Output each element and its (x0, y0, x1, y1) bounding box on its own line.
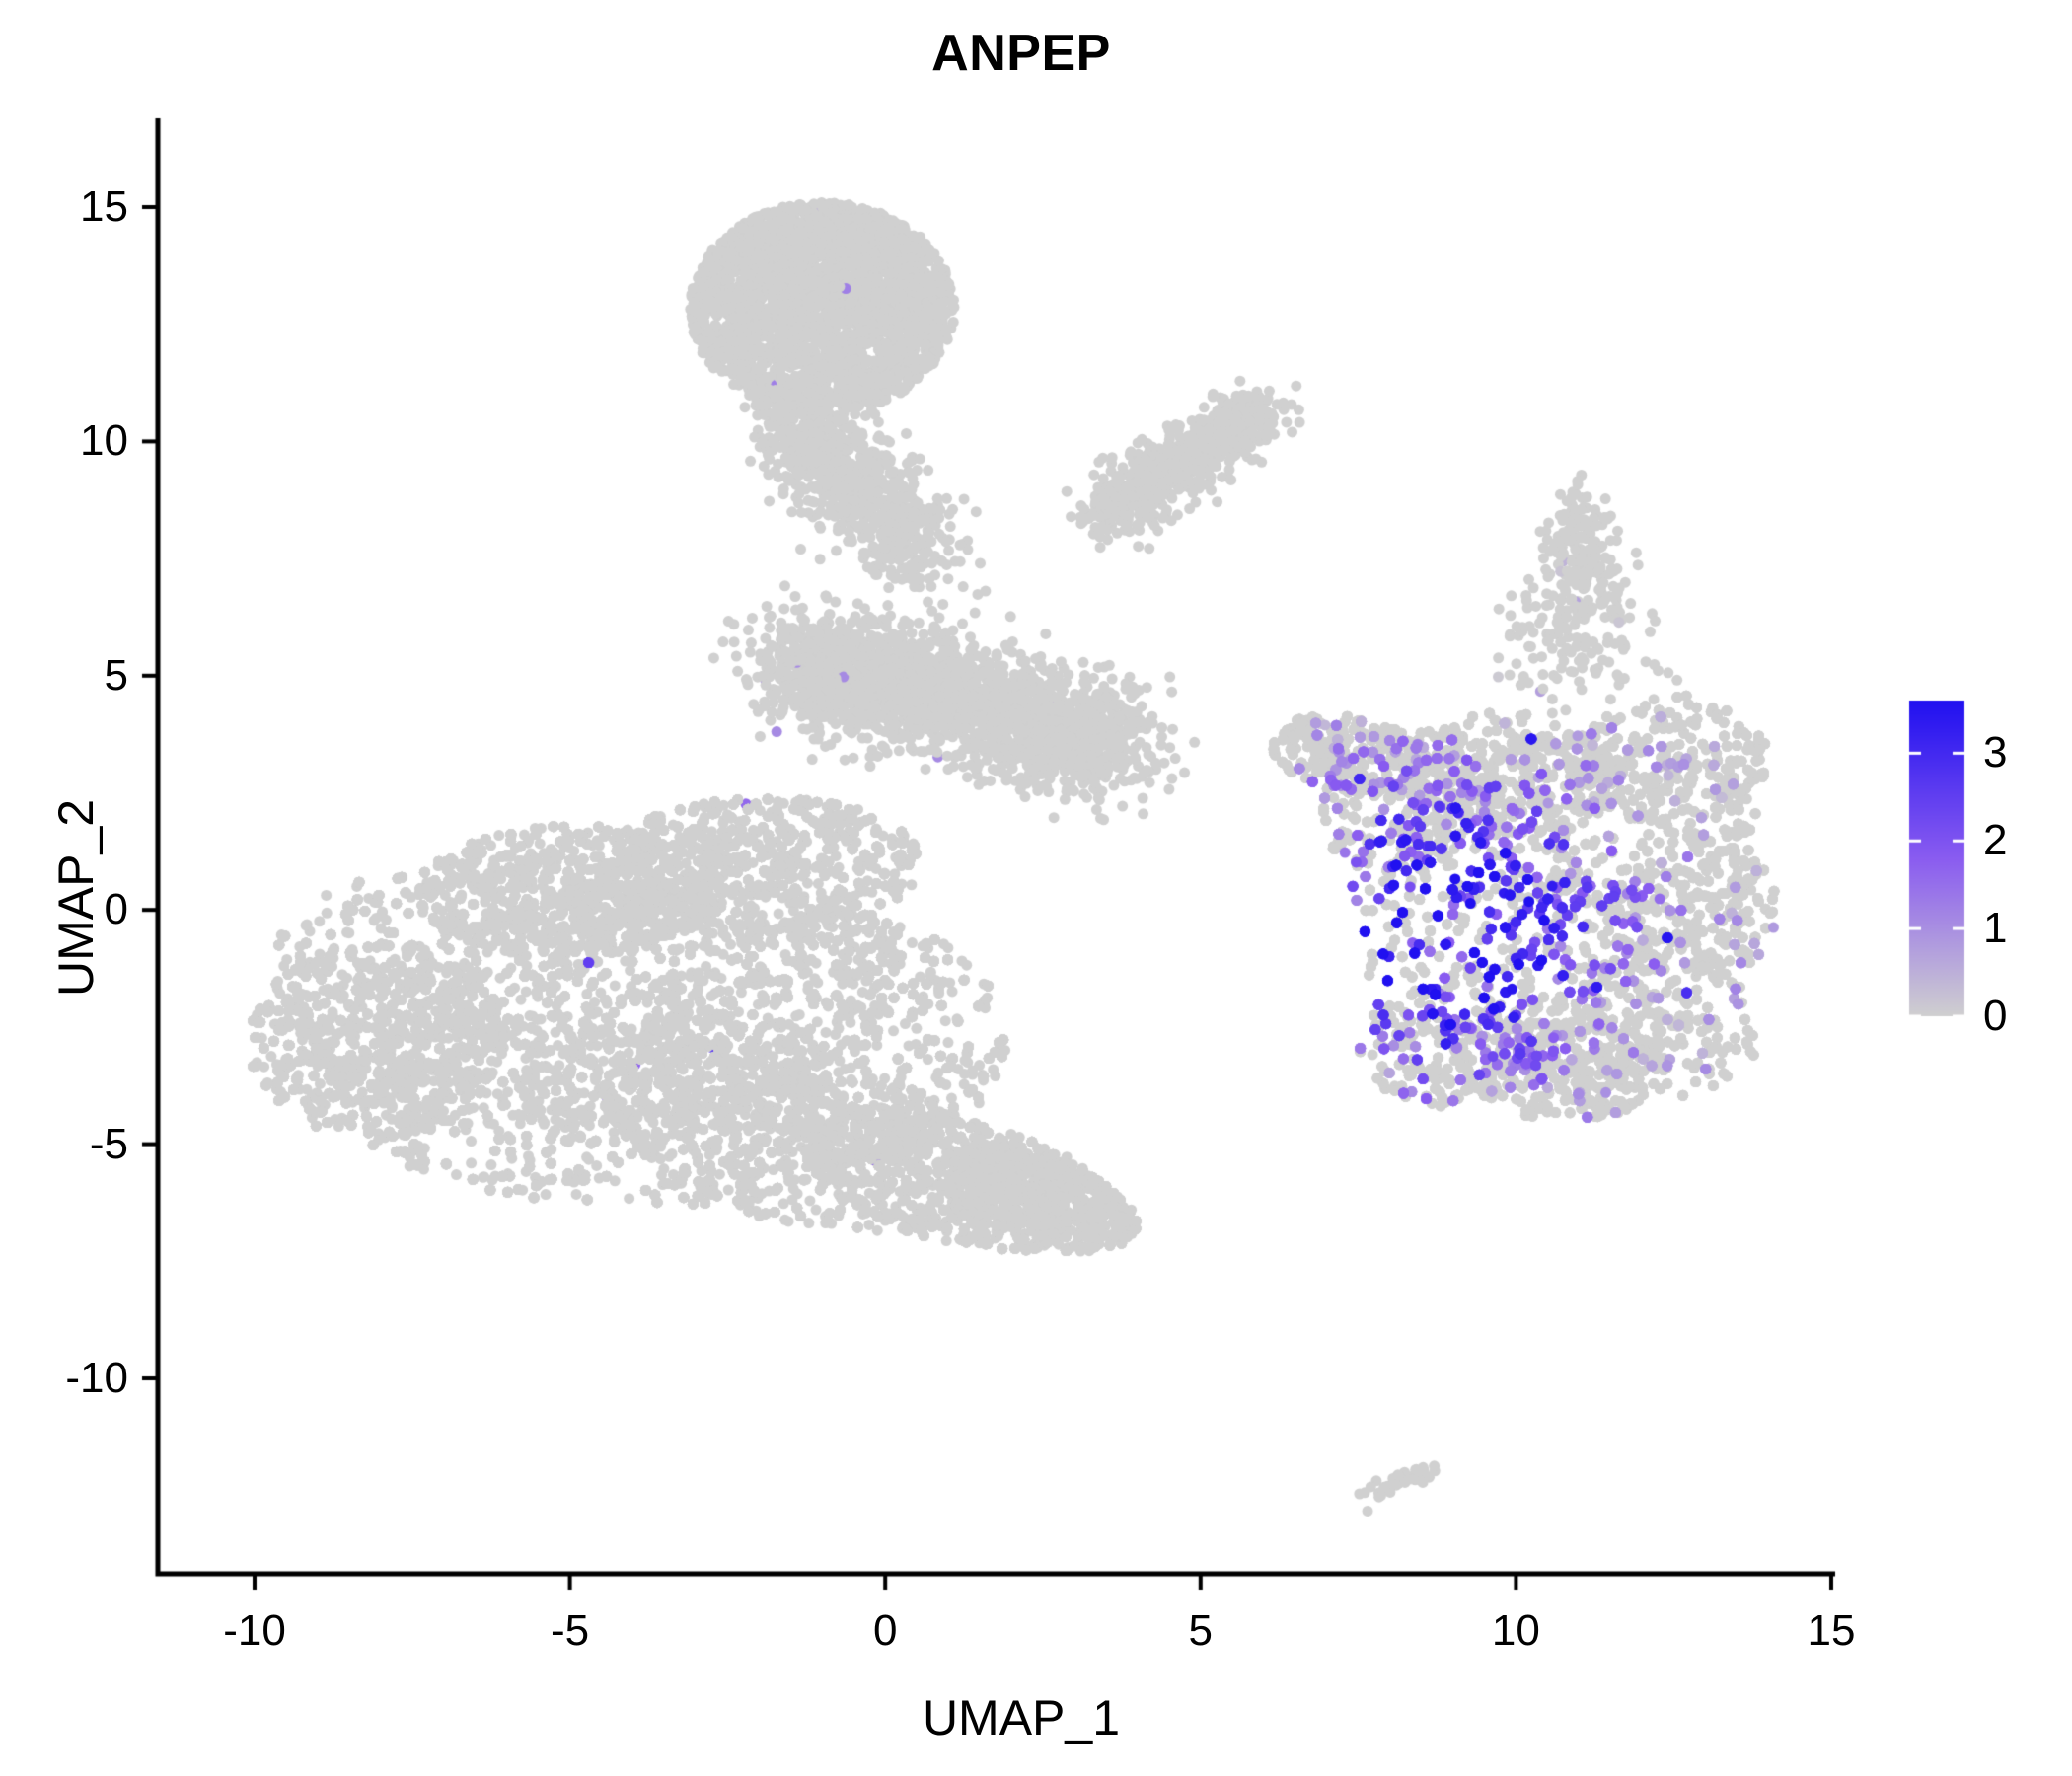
colorbar-tick-label: 0 (1983, 992, 2007, 1041)
y-tick-label: 5 (0, 651, 128, 701)
x-axis-label: UMAP_1 (0, 1689, 2042, 1746)
y-tick-label: 0 (0, 885, 128, 934)
colorbar-tick-label: 1 (1983, 904, 2007, 953)
x-tick-label: -10 (223, 1606, 286, 1656)
x-tick-label: 10 (1492, 1606, 1540, 1656)
umap-feature-plot: ANPEP UMAP_1 UMAP_2 -10-5051015 -10-5051… (0, 0, 2072, 1776)
x-tick-label: -5 (551, 1606, 589, 1656)
plot-title: ANPEP (0, 24, 2042, 83)
y-tick-label: 10 (0, 416, 128, 466)
x-tick-label: 15 (1808, 1606, 1856, 1656)
colorbar-tick-label: 3 (1983, 728, 2007, 777)
scatter-plot-canvas (0, 0, 2072, 1776)
y-tick-label: -10 (0, 1354, 128, 1403)
y-tick-label: -5 (0, 1120, 128, 1169)
colorbar-tick-label: 2 (1983, 816, 2007, 865)
x-tick-label: 0 (873, 1606, 897, 1656)
y-tick-label: 15 (0, 183, 128, 232)
x-tick-label: 5 (1189, 1606, 1213, 1656)
